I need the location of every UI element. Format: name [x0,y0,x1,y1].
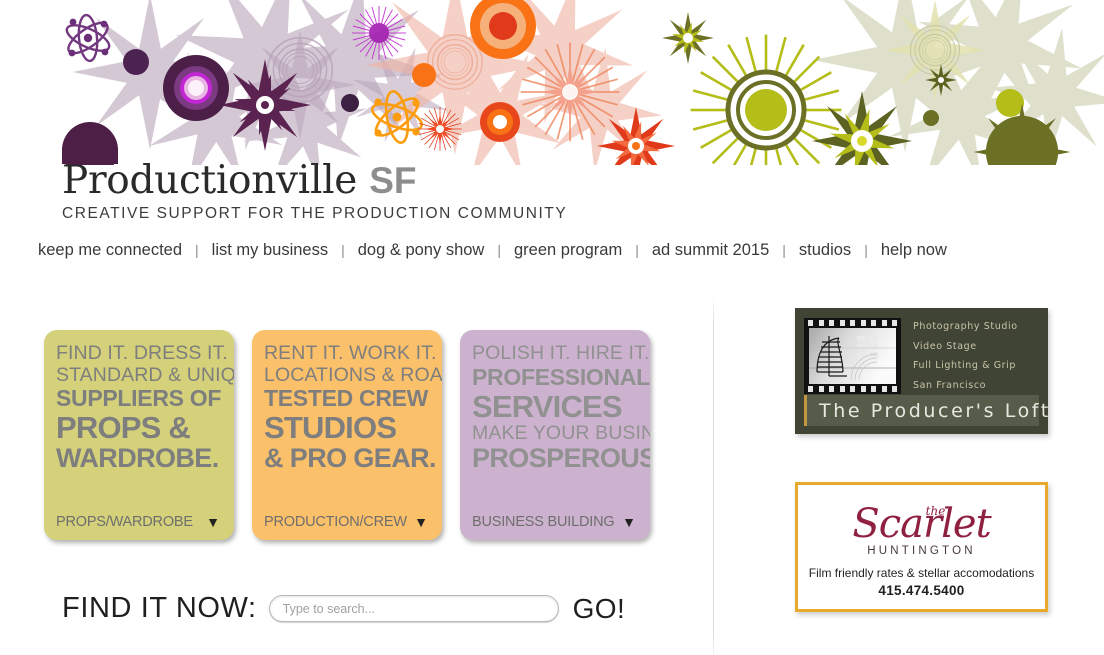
purple-target-circle [163,55,229,121]
category-line-5: & PRO GEAR. [264,445,430,472]
film-frame-icon [804,318,901,394]
search-bar: FIND IT NOW: GO! [62,592,625,625]
nav-separator: | [484,242,514,258]
category-footer-props-wardrobe[interactable]: PROPS/WARDROBE ▼ [44,504,234,540]
ad-scarlet-huntington[interactable]: the Scarlet HUNTINGTON Film friendly rat… [795,482,1048,612]
page-root: Productionville SF CREATIVE SUPPORT FOR … [0,0,1104,655]
nav-separator: | [851,242,881,258]
category-footer-production-crew[interactable]: PRODUCTION/CREW ▼ [252,504,442,540]
chartreuse-dot [996,89,1024,117]
nav-item-green-program[interactable]: green program [514,241,622,260]
header-decorative-banner [0,0,1104,165]
page-title: Productionville SF [62,160,567,202]
category-line-3: SERVICES [472,391,638,422]
category-line-3: SUPPLIERS OF [56,387,222,410]
category-line-2: STANDARD & UNIQUE [56,366,222,386]
nav-item-studios[interactable]: studios [799,241,851,260]
site-tagline: CREATIVE SUPPORT FOR THE PRODUCTION COMM… [62,205,567,223]
logo-title-suffix: SF [369,160,416,201]
ad-loft-service-list: Photography Studio Video Stage Full Ligh… [913,321,1018,399]
category-footer-business-building[interactable]: BUSINESS BUILDING ▼ [460,504,650,540]
category-line-1: FIND IT. DRESS IT. [56,344,222,364]
category-box-props-wardrobe[interactable]: FIND IT. DRESS IT. STANDARD & UNIQUE SUP… [44,330,234,540]
category-line-1: RENT IT. WORK IT. [264,344,430,364]
search-input[interactable] [269,595,559,622]
film-perforations-top [808,320,897,326]
olive-spiky-flower-small [662,12,714,64]
nav-item-ad-summit-2015[interactable]: ad summit 2015 [652,241,769,260]
category-line-2: PROFESSIONAL [472,366,638,389]
ad-loft-line: Photography Studio [913,321,1018,332]
ad-scarlet-name: Scarlet [852,505,990,543]
ad-scarlet-tagline: Film friendly rates & stellar accomodati… [809,566,1034,580]
ad-loft-name-bar: The Producer's Loft [804,395,1039,426]
ad-loft-line: San Francisco [913,380,1018,391]
nav-separator: | [182,242,212,258]
spiral-staircase-photo [809,328,896,384]
search-label: FIND IT NOW: [62,592,257,625]
orange-dot [412,63,436,87]
purple-dot-small [341,94,359,112]
ad-scarlet-the: the [926,505,946,517]
category-copy: RENT IT. WORK IT. LOCATIONS & ROAD TESTE… [252,344,442,472]
category-line-3: TESTED CREW [264,387,430,410]
category-line-5: PROSPEROUS. [472,445,638,472]
nav-item-list-my-business[interactable]: list my business [212,241,328,260]
category-footer-label: PROPS/WARDROBE [56,514,193,530]
ad-loft-line: Full Lighting & Grip [913,360,1018,371]
logo-title-main: Productionville [62,158,357,203]
category-copy: FIND IT. DRESS IT. STANDARD & UNIQUE SUP… [44,344,234,472]
column-divider [713,296,714,655]
banner-artwork [0,0,1104,165]
olive-dot-small [923,110,939,126]
category-line-4: MAKE YOUR BUSINESS [472,424,638,444]
sidebar-ads: Photography Studio Video Stage Full Ligh… [795,308,1048,612]
category-footer-label: PRODUCTION/CREW [264,514,407,530]
go-button[interactable]: GO! [573,593,626,625]
main-navigation: keep me connected | list my business | d… [38,241,947,260]
category-copy: POLISH IT. HIRE IT. PROFESSIONAL SERVICE… [460,344,650,472]
ad-scarlet-phone: 415.474.5400 [878,583,964,598]
category-line-4: PROPS & [56,412,222,443]
category-box-business-building[interactable]: POLISH IT. HIRE IT. PROFESSIONAL SERVICE… [460,330,650,540]
ad-producers-loft[interactable]: Photography Studio Video Stage Full Ligh… [795,308,1048,434]
site-logo[interactable]: Productionville SF CREATIVE SUPPORT FOR … [62,160,567,223]
chevron-down-icon[interactable]: ▼ [622,515,636,529]
nav-separator: | [769,242,799,258]
chevron-down-icon[interactable]: ▼ [206,515,220,529]
nav-item-keep-me-connected[interactable]: keep me connected [38,241,182,260]
nav-separator: | [328,242,358,258]
red-spiky-flower [418,107,462,151]
ad-loft-line: Video Stage [913,341,1018,352]
magenta-spike-burst [352,6,406,60]
category-box-production-crew[interactable]: RENT IT. WORK IT. LOCATIONS & ROAD TESTE… [252,330,442,540]
nav-item-help-now[interactable]: help now [881,241,947,260]
nav-separator: | [622,242,652,258]
category-footer-label: BUSINESS BUILDING [472,514,614,530]
category-line-4: STUDIOS [264,412,430,443]
nav-item-dog-pony-show[interactable]: dog & pony show [358,241,485,260]
category-line-2: LOCATIONS & ROAD [264,366,430,386]
purple-dot-large [123,49,149,75]
chartreuse-target-circle [728,72,804,148]
category-line-5: WARDROBE. [56,445,222,472]
category-line-1: POLISH IT. HIRE IT. [472,344,638,364]
chevron-down-icon[interactable]: ▼ [414,515,428,529]
ad-loft-name: The Producer's Loft [819,400,1048,422]
orange-target-circle-small [480,102,520,142]
ad-scarlet-sub: HUNTINGTON [867,545,975,557]
film-perforations-bottom [808,386,897,392]
category-boxes: FIND IT. DRESS IT. STANDARD & UNIQUE SUP… [44,330,650,540]
